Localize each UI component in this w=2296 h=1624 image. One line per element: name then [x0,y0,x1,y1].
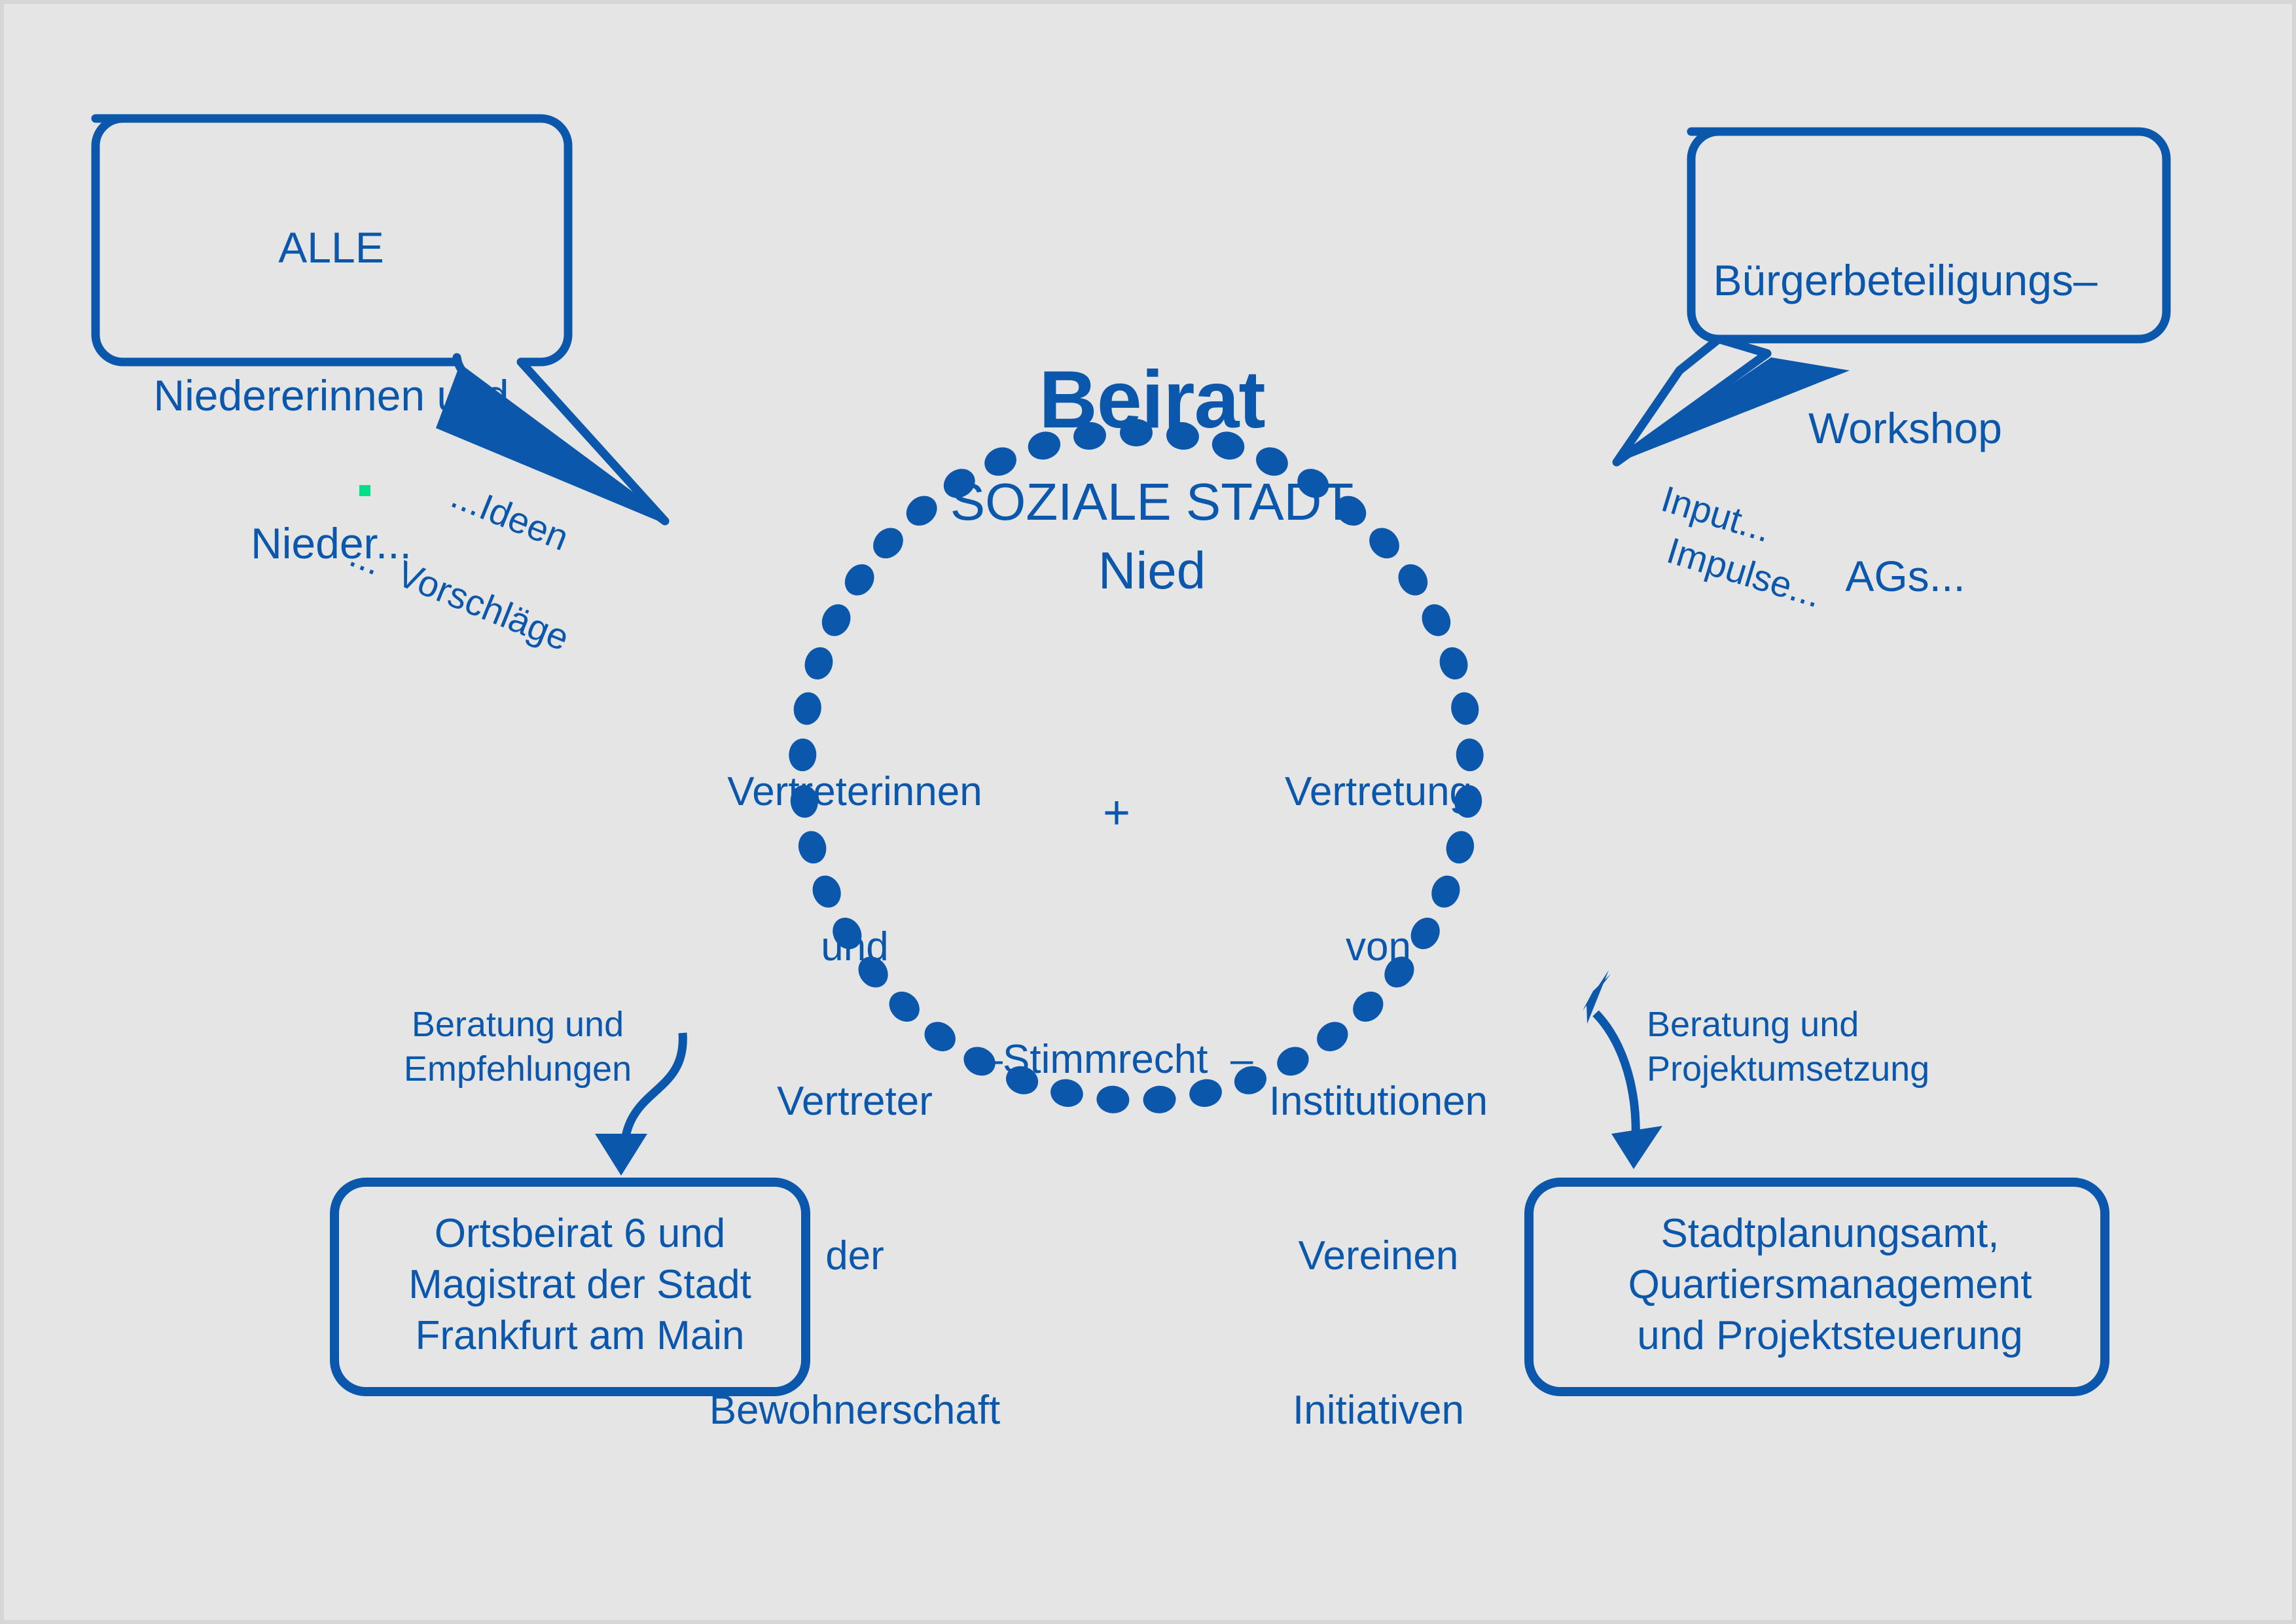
right-col-line-1: von [1182,922,1575,973]
bubble-left-line2: Niedererinnen und [96,371,567,420]
diagram-canvas: ALLE Niedererinnen und Nieder... Bürgerb… [0,0,2296,1624]
left-col-line-4: Bewohnerschaft [658,1385,1051,1437]
right-col-line-3: Vereinen [1182,1231,1575,1282]
circle-subtitle-line2: Nied [825,541,1479,600]
annotation-beratung-empfehlungen: Beratung und Empfehlungen [387,1002,649,1091]
bubble-right-line2: Workshop [1670,404,2141,453]
circle-subtitle-line1: SOZIALE STADT [825,472,1479,532]
left-col-line-0: Vertreterinnen [658,767,1051,818]
page-title: Beirat [825,354,1479,446]
right-col-line-2: Institutionen [1182,1076,1575,1128]
arrowhead-up-icon-b [1583,974,1611,1011]
right-col-line-0: Vertretung [1182,767,1575,818]
bubble-right-line1: Bürgerbeteiligungs– [1670,256,2141,305]
circle-right-column: Vertretung von Institutionen Vereinen In… [1182,664,1575,1540]
circle-left-column: Vertreterinnen und Vertreter der Bewohne… [658,664,1051,1540]
stimmrecht-note: –Stimmrecht – [855,1037,1378,1083]
bubble-right-text: Bürgerbeteiligungs– Workshop AGs... [1670,158,2141,700]
box-bottom-right-label: Stadtplanungsamt, Quartiersmanagement un… [1535,1208,2125,1362]
green-dot-marker [359,485,370,496]
arrowhead-icon [595,1134,647,1176]
left-col-line-1: und [658,922,1051,973]
plus-sign: + [1084,786,1149,840]
box-bottom-left-label: Ortsbeirat 6 und Magistrat der Stadt Fra… [338,1208,822,1362]
right-col-line-4: Initiativen [1182,1385,1575,1437]
bubble-left-line1: ALLE [96,223,567,272]
left-col-line-2: Vertreter [658,1076,1051,1128]
annotation-beratung-projektumsetzung: Beratung und Projektumsetzung [1647,1002,2013,1091]
arrowhead-down-icon [1611,1126,1662,1169]
